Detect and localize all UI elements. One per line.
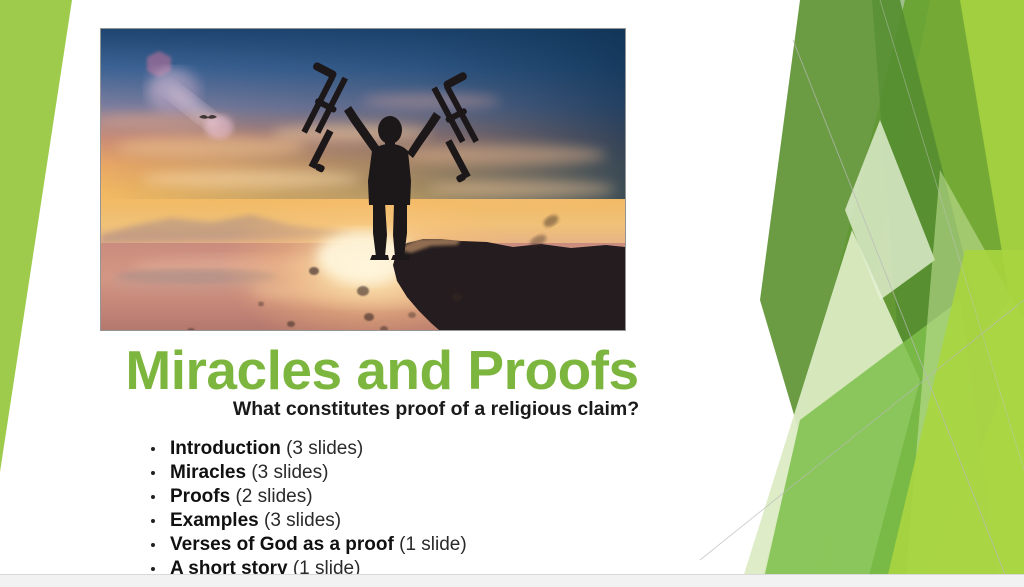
facet-dark-secondary (872, 0, 1010, 430)
outline-item-count: (3 slides) (246, 462, 328, 483)
presentation-slide: Miracles and Proofs What constitutes pro… (0, 0, 1024, 587)
left-foot (370, 255, 389, 260)
slide-bottom-crop-band (0, 574, 1024, 587)
list-item: Verses of God as a proof (1 slide) (146, 533, 846, 557)
outline-item-label: Introduction (170, 438, 281, 459)
right-leg (393, 203, 407, 257)
head (378, 116, 402, 144)
left-leg (373, 203, 387, 257)
torso (368, 144, 411, 205)
list-item: Examples (3 slides) (146, 509, 846, 533)
right-foot (391, 255, 410, 260)
outline-item-count: (3 slides) (259, 510, 341, 531)
list-item: Miracles (3 slides) (146, 461, 846, 485)
outline-item-label: Verses of God as a proof (170, 534, 394, 555)
outline-item-label: Miracles (170, 462, 246, 483)
slide-title: Miracles and Proofs (0, 342, 764, 398)
cliff (393, 239, 625, 330)
outline-item-label: Examples (170, 510, 259, 531)
facet-lime-foreground (885, 250, 1024, 587)
outline-item-label: Proofs (170, 486, 230, 507)
outline-item-count: (1 slide) (394, 534, 467, 555)
facet-pale-sliver (845, 120, 935, 300)
slide-image (101, 29, 625, 330)
outline-item-count: (3 slides) (281, 438, 363, 459)
sunset-crutches-illustration (101, 29, 625, 330)
facet-light-overlay (905, 170, 1024, 587)
outline-list: Introduction (3 slides) Miracles (3 slid… (146, 437, 846, 581)
list-item: Introduction (3 slides) (146, 437, 846, 461)
list-item: Proofs (2 slides) (146, 485, 846, 509)
outline-item-count: (2 slides) (230, 486, 312, 507)
hairline-third (880, 0, 1024, 470)
slide-subtitle: What constitutes proof of a religious cl… (0, 398, 872, 421)
